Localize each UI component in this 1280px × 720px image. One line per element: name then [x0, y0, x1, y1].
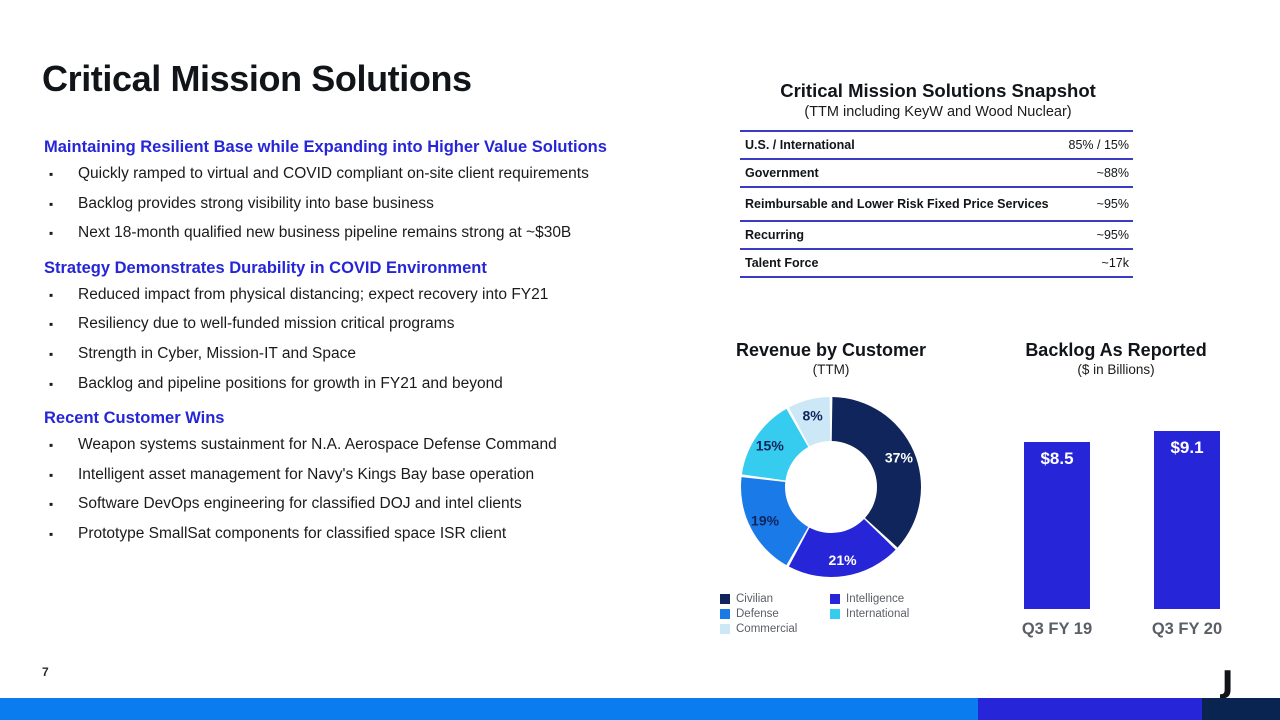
table-cell-label: Recurring — [740, 221, 1061, 249]
bullet-marker-icon: ▪ — [44, 495, 78, 513]
svg-text:19%: 19% — [751, 513, 780, 529]
legend-label: Civilian — [736, 593, 773, 605]
legend-item-civilian: Civilian — [720, 591, 824, 606]
jacobs-logo-icon: J — [1222, 668, 1234, 698]
legend-item-intelligence: Intelligence — [830, 591, 950, 606]
legend-item-international: International — [830, 606, 950, 621]
snapshot-title: Critical Mission Solutions Snapshot — [738, 80, 1138, 102]
table-row: Reimbursable and Lower Risk Fixed Price … — [740, 187, 1133, 221]
legend-swatch-icon — [720, 594, 730, 604]
bullet-marker-icon: ▪ — [44, 375, 78, 393]
table-cell-value: ~95% — [1061, 187, 1133, 221]
bar-chart-title: Backlog As Reported — [986, 340, 1246, 361]
bullet-text: Intelligent asset management for Navy's … — [78, 466, 714, 485]
snapshot-subtitle: (TTM including KeyW and Wood Nuclear) — [738, 104, 1138, 120]
list-item: ▪ Next 18-month qualified new business p… — [44, 224, 714, 243]
legend-swatch-icon — [830, 594, 840, 604]
donut-svg: 37%21%19%15%8% — [737, 393, 925, 581]
bullet-marker-icon: ▪ — [44, 315, 78, 333]
footer-color-bar — [0, 698, 1280, 720]
donut-graphic: 37%21%19%15%8% — [737, 393, 925, 581]
legend-swatch-icon — [720, 609, 730, 619]
footer-segment-blue — [0, 698, 978, 720]
legend-label: International — [846, 608, 909, 620]
bar-category-label: Q3 FY 20 — [1132, 620, 1242, 639]
list-item: ▪ Resiliency due to well-funded mission … — [44, 315, 714, 334]
bullet-text: Strength in Cyber, Mission-IT and Space — [78, 345, 714, 364]
table-cell-label: Government — [740, 159, 1061, 187]
page-title: Critical Mission Solutions — [42, 58, 472, 100]
backlog-as-reported-chart: Backlog As Reported ($ in Billions) $8.5… — [986, 340, 1246, 643]
table-cell-value: ~88% — [1061, 159, 1133, 187]
table-row: Government ~88% — [740, 159, 1133, 187]
bullet-text: Quickly ramped to virtual and COVID comp… — [78, 165, 714, 184]
table-cell-value: ~17k — [1061, 249, 1133, 277]
snapshot-table: U.S. / International 85% / 15% Governmen… — [740, 130, 1133, 278]
bullet-marker-icon: ▪ — [44, 286, 78, 304]
footer-segment-royal — [978, 698, 1202, 720]
legend-label: Defense — [736, 608, 779, 620]
list-item: ▪ Backlog provides strong visibility int… — [44, 195, 714, 214]
bar-value-label: $8.5 — [1040, 449, 1073, 469]
bullet-text: Backlog provides strong visibility into … — [78, 195, 714, 214]
bullet-text: Backlog and pipeline positions for growt… — [78, 375, 714, 394]
bullet-marker-icon: ▪ — [44, 224, 78, 242]
bullet-text: Weapon systems sustainment for N.A. Aero… — [78, 436, 714, 455]
svg-text:37%: 37% — [885, 450, 914, 466]
bullet-text: Resiliency due to well-funded mission cr… — [78, 315, 714, 334]
page-number: 7 — [42, 665, 49, 679]
bar-q3-fy-20: $9.1 — [1154, 431, 1220, 609]
left-content-column: Maintaining Resilient Base while Expandi… — [44, 138, 714, 555]
legend-item-defense: Defense — [720, 606, 824, 621]
table-row: Recurring ~95% — [740, 221, 1133, 249]
charts-row: Revenue by Customer (TTM) 37%21%19%15%8%… — [706, 340, 1246, 670]
legend-label: Intelligence — [846, 593, 904, 605]
list-item: ▪ Strength in Cyber, Mission-IT and Spac… — [44, 345, 714, 364]
donut-chart-title: Revenue by Customer — [706, 340, 956, 361]
table-row: U.S. / International 85% / 15% — [740, 131, 1133, 159]
svg-text:8%: 8% — [802, 407, 823, 423]
table-cell-value: ~95% — [1061, 221, 1133, 249]
table-cell-label: Talent Force — [740, 249, 1061, 277]
bar-chart-subtitle: ($ in Billions) — [986, 362, 1246, 377]
donut-legend: Civilian Intelligence Defense Internatio… — [720, 591, 950, 636]
bullet-text: Reduced impact from physical distancing;… — [78, 286, 714, 305]
section-heading-1: Maintaining Resilient Base while Expandi… — [44, 138, 714, 157]
table-row: Talent Force ~17k — [740, 249, 1133, 277]
bullet-list-2: ▪ Reduced impact from physical distancin… — [44, 286, 714, 393]
list-item: ▪ Intelligent asset management for Navy'… — [44, 466, 714, 485]
bar-q3-fy-19: $8.5 — [1024, 442, 1090, 609]
bar-value-label: $9.1 — [1170, 438, 1203, 458]
bars-plot-area: $8.5 Q3 FY 19 $9.1 Q3 FY 20 — [986, 393, 1246, 643]
bullet-list-3: ▪ Weapon systems sustainment for N.A. Ae… — [44, 436, 714, 543]
list-item: ▪ Weapon systems sustainment for N.A. Ae… — [44, 436, 714, 455]
bullet-marker-icon: ▪ — [44, 466, 78, 484]
legend-label: Commercial — [736, 623, 797, 635]
list-item: ▪ Quickly ramped to virtual and COVID co… — [44, 165, 714, 184]
list-item: ▪ Software DevOps engineering for classi… — [44, 495, 714, 514]
revenue-by-customer-chart: Revenue by Customer (TTM) 37%21%19%15%8%… — [706, 340, 956, 636]
svg-text:21%: 21% — [829, 552, 858, 568]
svg-text:15%: 15% — [756, 437, 785, 453]
bullet-text: Next 18-month qualified new business pip… — [78, 224, 714, 243]
slide-root: Critical Mission Solutions Maintaining R… — [0, 0, 1280, 720]
list-item: ▪ Backlog and pipeline positions for gro… — [44, 375, 714, 394]
donut-chart-subtitle: (TTM) — [706, 362, 956, 377]
bullet-text: Prototype SmallSat components for classi… — [78, 525, 714, 544]
snapshot-panel: Critical Mission Solutions Snapshot (TTM… — [720, 80, 1230, 278]
section-heading-2: Strategy Demonstrates Durability in COVI… — [44, 259, 714, 278]
table-cell-label: Reimbursable and Lower Risk Fixed Price … — [740, 187, 1061, 221]
legend-swatch-icon — [720, 624, 730, 634]
bullet-marker-icon: ▪ — [44, 165, 78, 183]
legend-item-commercial: Commercial — [720, 621, 824, 636]
section-heading-3: Recent Customer Wins — [44, 409, 714, 428]
list-item: ▪ Prototype SmallSat components for clas… — [44, 525, 714, 544]
bullet-marker-icon: ▪ — [44, 436, 78, 454]
bullet-text: Software DevOps engineering for classifi… — [78, 495, 714, 514]
bar-category-label: Q3 FY 19 — [1002, 620, 1112, 639]
table-cell-value: 85% / 15% — [1061, 131, 1133, 159]
bullet-list-1: ▪ Quickly ramped to virtual and COVID co… — [44, 165, 714, 243]
list-item: ▪ Reduced impact from physical distancin… — [44, 286, 714, 305]
footer-segment-navy — [1202, 698, 1280, 720]
table-cell-label: U.S. / International — [740, 131, 1061, 159]
bullet-marker-icon: ▪ — [44, 345, 78, 363]
legend-swatch-icon — [830, 609, 840, 619]
bullet-marker-icon: ▪ — [44, 525, 78, 543]
bullet-marker-icon: ▪ — [44, 195, 78, 213]
